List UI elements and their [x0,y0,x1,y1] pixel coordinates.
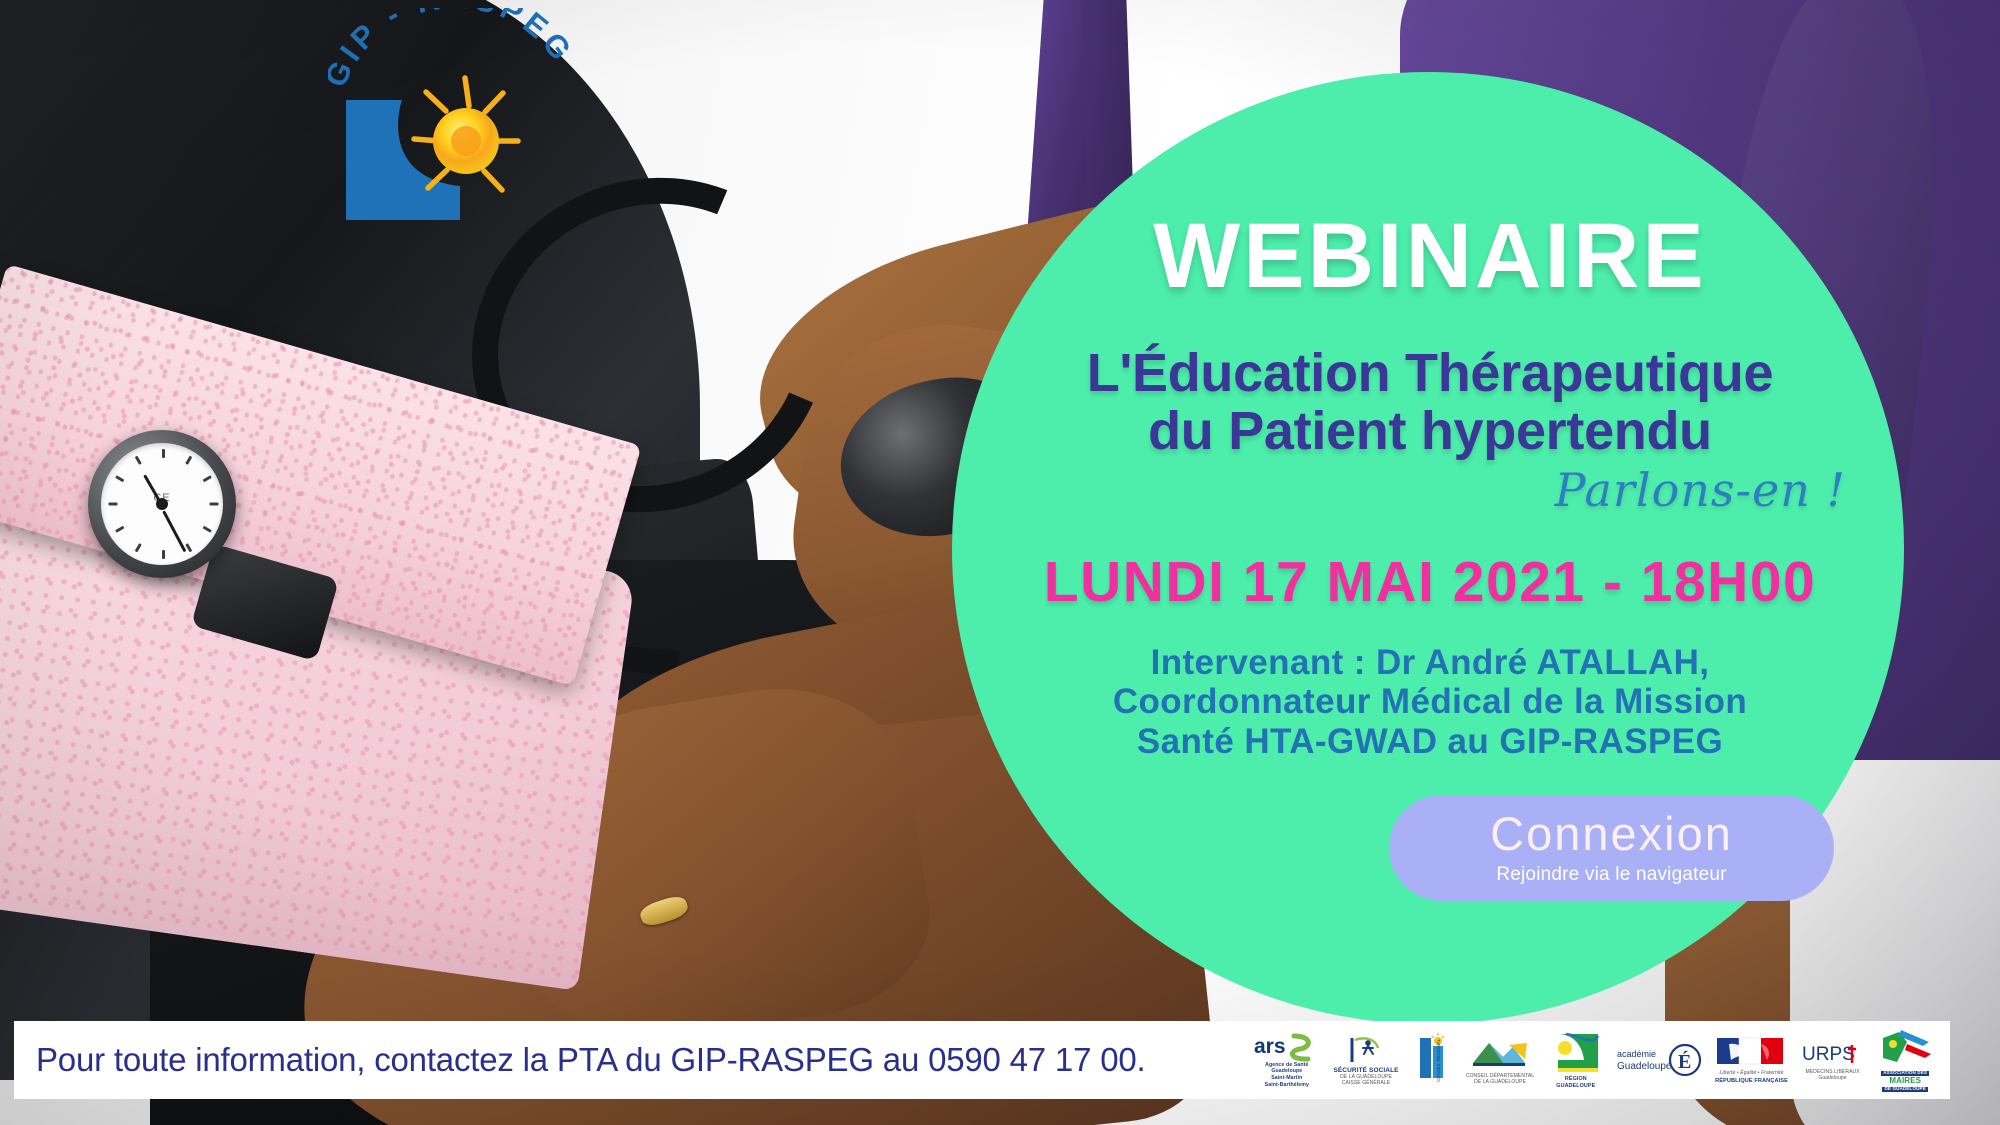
urps-icon: URPS [1802,1039,1864,1069]
logo-arc-text: GIP - RASPEG [328,8,598,238]
ars-label-3: Saint-Martin [1271,1076,1302,1082]
webinar-speaker-block: Intervenant : Dr André ATALLAH, Coordonn… [980,643,1880,762]
partner-logo-urps: URPS MÉDECINS LIBÉRAUX Guadeloupe [1802,1026,1864,1094]
ss-label-1: SÉCURITÉ SOCIALE [1333,1067,1398,1074]
gip-raspeg-logo: GIP - RASPEG [328,8,598,238]
webinar-poster: CE [0,0,2000,1125]
rf-motto: Liberté • Égalité • Fraternité [1719,1071,1783,1076]
academie-guadeloupe-icon: académie Guadeloupe É [1617,1040,1701,1080]
svg-text:É: É [1678,1050,1691,1073]
partner-logo-ars: ars Agence de Santé Guadeloupe Saint-Mar… [1254,1026,1320,1094]
webinar-info-panel: WEBINAIRE L'Éducation Thérapeutique du P… [980,210,1880,901]
academie-word: académie [1617,1049,1656,1059]
conseil-departemental-icon [1469,1035,1531,1073]
region-guadeloupe-icon [1548,1030,1604,1076]
partner-logo-strip: ars Agence de Santé Guadeloupe Saint-Mar… [1237,1021,1950,1099]
speaker-line-3: Santé HTA-GWAD au GIP-RASPEG [980,722,1880,762]
guadeloupe-word: Guadeloupe [1617,1061,1672,1072]
contact-bar: Pour toute information, contactez la PTA… [14,1021,1237,1099]
urps-label-2: Guadeloupe [1818,1076,1846,1081]
securite-sociale-icon [1346,1034,1386,1066]
partner-logo-cgss: CONSEIL RÉGIONAL [1412,1026,1452,1094]
partner-logo-region-guadeloupe: RÉGION GUADELOUPE [1548,1026,1604,1094]
partner-logo-association-des-maires: ASSOCIATION DES MAIRES DE GUADELOUPE [1877,1026,1933,1094]
connexion-button-sublabel: Rejoindre via le navigateur [1496,864,1726,886]
partner-logo-academie-guadeloupe: académie Guadeloupe É [1617,1026,1701,1094]
contact-text: Pour toute information, contactez la PTA… [36,1041,1145,1079]
webinar-kicker: WEBINAIRE [980,210,1880,302]
urps-wordmark: URPS [1802,1044,1855,1065]
ars-label-4: Saint-Barthélemy [1265,1083,1309,1089]
speaker-line-1: Intervenant : Dr André ATALLAH, [980,643,1880,683]
partner-logo-republique-francaise: Liberté • Égalité • Fraternité RÉPUBLIQU… [1715,1026,1788,1094]
webinar-script-line: Parlons-en ! [980,463,1880,517]
ars-icon: ars [1254,1032,1320,1062]
cd-label-2: DE LA GUADELOUPE [1474,1080,1526,1085]
connexion-area: Connexion Rejoindre via le navigateur [980,795,1880,901]
speaker-line-2: Coordonnateur Médical de la Mission [980,682,1880,722]
partner-logo-securite-sociale: SÉCURITÉ SOCIALE DE LA GUADELOUPE CAISSE… [1333,1026,1398,1094]
connexion-button[interactable]: Connexion Rejoindre via le navigateur [1389,795,1834,901]
webinar-title: L'Éducation Thérapeutique du Patient hyp… [980,344,1880,461]
svg-text:ars: ars [1254,1035,1286,1058]
connexion-button-label: Connexion [1490,810,1733,857]
webinar-title-line-2: du Patient hypertendu [980,402,1880,460]
cgss-vertical-label: CONSEIL RÉGIONAL [1436,1038,1441,1082]
adm-label-3: DE GUADELOUPE [1882,1087,1927,1092]
ss-label-3: CAISSE GÉNÉRALE [1342,1081,1390,1086]
webinar-dateline: LUNDI 17 MAI 2021 - 18H00 [980,549,1880,615]
cgss-icon: CONSEIL RÉGIONAL [1412,1032,1452,1088]
partner-logo-conseil-departemental: CONSEIL DÉPARTEMENTAL DE LA GUADELOUPE [1466,1026,1534,1094]
rf-label: RÉPUBLIQUE FRANÇAISE [1715,1078,1788,1084]
adm-label-2: MAIRES [1889,1077,1921,1086]
association-des-maires-icon [1877,1028,1933,1070]
rg-label-2: GUADELOUPE [1556,1084,1595,1090]
webinar-title-line-1: L'Éducation Thérapeutique [980,344,1880,402]
republique-francaise-icon [1715,1036,1787,1070]
logo-arc-label: GIP - RASPEG [328,8,581,92]
